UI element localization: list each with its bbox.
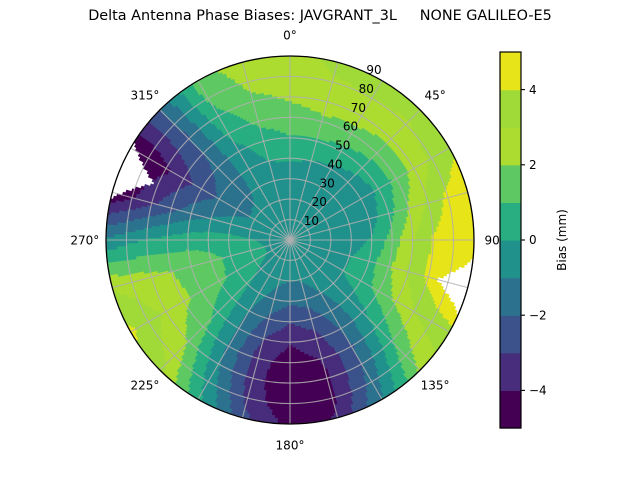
figure-canvas: Delta Antenna Phase Biases: JAVGRANT_3L … bbox=[0, 0, 640, 480]
polar-plot: 0°45°90°135°180°225°270°315° 10203040506… bbox=[0, 0, 640, 480]
